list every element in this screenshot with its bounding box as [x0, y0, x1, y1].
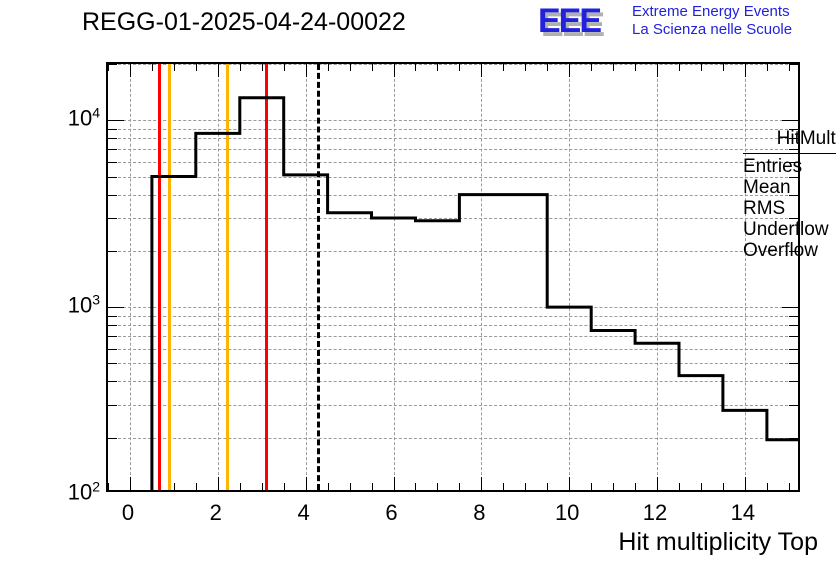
x-axis-tick [108, 64, 109, 71]
x-axis-tick [679, 483, 680, 490]
x-axis-tick [569, 477, 570, 490]
eee-logo-line2: La Scienza nelle Scuole [632, 21, 792, 39]
x-axis-tick [789, 483, 790, 490]
y-axis-tick [108, 381, 117, 382]
x-axis-tick [394, 64, 395, 77]
x-axis-tick [284, 64, 285, 71]
plot-area [108, 64, 798, 490]
x-axis-tick [437, 483, 438, 490]
stats-key: RMS [743, 198, 785, 220]
stats-row: RMS2.717 [743, 198, 836, 219]
x-axis-tick [372, 64, 373, 71]
x-axis-tick-label: 4 [298, 500, 310, 526]
x-axis-tick [547, 483, 548, 490]
x-axis-tick [284, 483, 285, 490]
x-axis-tick [723, 64, 724, 71]
x-axis-tick-label: 2 [210, 500, 222, 526]
y-axis-tick [789, 316, 798, 317]
x-axis-tick [657, 477, 658, 490]
eee-logo: EEE Extreme Energy Events La Scienza nel… [538, 2, 834, 42]
x-axis-tick [306, 477, 307, 490]
x-axis-tick [108, 483, 109, 490]
x-axis-tick [174, 64, 175, 71]
x-axis-tick [481, 477, 482, 490]
x-axis-tick [218, 64, 219, 77]
x-axis-tick [415, 483, 416, 490]
y-axis-tick [108, 218, 117, 219]
x-axis-tick-label: 6 [385, 500, 397, 526]
x-axis-title: Hit multiplicity Top [618, 528, 818, 557]
page-title: REGG-01-2025-04-24-00022 [82, 8, 406, 37]
y-axis-tick-label: 103 [68, 291, 100, 318]
x-axis-tick-label: 14 [731, 500, 755, 526]
x-axis-tick-label: 12 [643, 500, 667, 526]
x-axis-tick [657, 64, 658, 77]
x-axis-tick [767, 483, 768, 490]
x-axis-tick [767, 64, 768, 71]
x-axis-tick [789, 64, 790, 71]
x-axis-tick [569, 64, 570, 77]
x-axis-tick [372, 483, 373, 490]
x-axis-tick-label: 0 [122, 500, 134, 526]
y-axis-tick [108, 307, 124, 308]
y-axis-tick [782, 120, 798, 121]
x-axis-tick [701, 483, 702, 490]
x-axis-tick [350, 64, 351, 71]
x-axis-tick [459, 483, 460, 490]
x-axis-tick [723, 483, 724, 490]
x-axis-tick-label: 10 [555, 500, 579, 526]
x-axis-tick [130, 477, 131, 490]
x-axis-tick [130, 64, 131, 77]
x-axis-tick [152, 483, 153, 490]
x-axis-tick [525, 64, 526, 71]
x-axis-tick [415, 64, 416, 71]
y-axis-tick [782, 307, 798, 308]
x-axis-tick [306, 64, 307, 77]
x-axis-tick [503, 483, 504, 490]
y-axis-tick [789, 405, 798, 406]
y-axis-tick [789, 325, 798, 326]
stats-title: HitMultTop [737, 128, 836, 150]
x-axis-tick [525, 483, 526, 490]
y-axis-tick [108, 325, 117, 326]
x-axis-tick [635, 483, 636, 490]
x-axis-tick [262, 64, 263, 71]
x-axis-tick [745, 477, 746, 490]
y-axis-tick [789, 64, 798, 65]
y-axis-tick [108, 195, 117, 196]
x-axis-tick [679, 64, 680, 71]
y-axis-tick [108, 138, 117, 139]
x-axis-tick [547, 64, 548, 71]
stats-key: Overflow [743, 240, 818, 262]
plot-frame: HitMultTop Entries47431Mean4.178RMS2.717… [106, 62, 800, 492]
histogram-curve [108, 64, 798, 490]
stats-divider [743, 153, 836, 154]
x-axis-tick [196, 64, 197, 71]
y-axis-labels: 102103104 [0, 62, 100, 492]
y-axis-tick [108, 438, 117, 439]
y-axis-tick-label: 102 [68, 478, 100, 505]
x-axis-tick [745, 64, 746, 77]
y-axis-tick [789, 349, 798, 350]
stats-row: Overflow1086 [743, 240, 836, 261]
x-axis-tick [591, 483, 592, 490]
y-axis-tick [108, 336, 117, 337]
x-axis-tick [635, 64, 636, 71]
x-axis-tick [240, 64, 241, 71]
stats-row: Mean4.178 [743, 177, 836, 198]
y-axis-tick [108, 251, 117, 252]
x-axis-tick [437, 64, 438, 71]
y-axis-tick [789, 363, 798, 364]
x-axis-tick [328, 483, 329, 490]
eee-logo-mark: EEE [538, 4, 600, 38]
y-axis-tick [108, 363, 117, 364]
y-axis-tick [108, 177, 117, 178]
y-axis-tick [789, 336, 798, 337]
x-axis-tick [481, 64, 482, 77]
eee-logo-line1: Extreme Energy Events [632, 3, 790, 21]
y-axis-tick [789, 438, 798, 439]
x-axis-tick [174, 483, 175, 490]
x-axis-tick [262, 483, 263, 490]
x-axis-tick [613, 483, 614, 490]
x-axis-tick [218, 477, 219, 490]
stats-key: Entries [743, 156, 802, 178]
y-axis-tick [108, 316, 117, 317]
x-axis-tick-label: 8 [473, 500, 485, 526]
y-axis-tick [108, 162, 117, 163]
y-axis-tick [108, 349, 117, 350]
x-axis-tick [459, 64, 460, 71]
y-axis-tick [108, 64, 117, 65]
x-axis-tick [591, 64, 592, 71]
stats-box: HitMultTop Entries47431Mean4.178RMS2.717… [737, 126, 836, 259]
y-axis-tick [108, 149, 117, 150]
x-axis-tick [394, 477, 395, 490]
stats-key: Mean [743, 177, 791, 199]
y-axis-tick-label: 104 [68, 105, 100, 132]
y-axis-tick [108, 129, 117, 130]
x-axis-tick [503, 64, 504, 71]
x-axis-tick [152, 64, 153, 71]
x-axis-tick [328, 64, 329, 71]
stats-row: Entries47431 [743, 156, 836, 177]
x-axis-tick [196, 483, 197, 490]
y-axis-tick [789, 381, 798, 382]
y-axis-tick [108, 405, 117, 406]
x-axis-tick [613, 64, 614, 71]
x-axis-tick [240, 483, 241, 490]
x-axis-tick [350, 483, 351, 490]
stats-row: Underflow0 [743, 219, 836, 240]
y-axis-tick [108, 120, 124, 121]
plot-canvas: REGG-01-2025-04-24-00022 EEE Extreme Ene… [0, 0, 836, 572]
x-axis-tick [701, 64, 702, 71]
stats-key: Underflow [743, 219, 829, 241]
